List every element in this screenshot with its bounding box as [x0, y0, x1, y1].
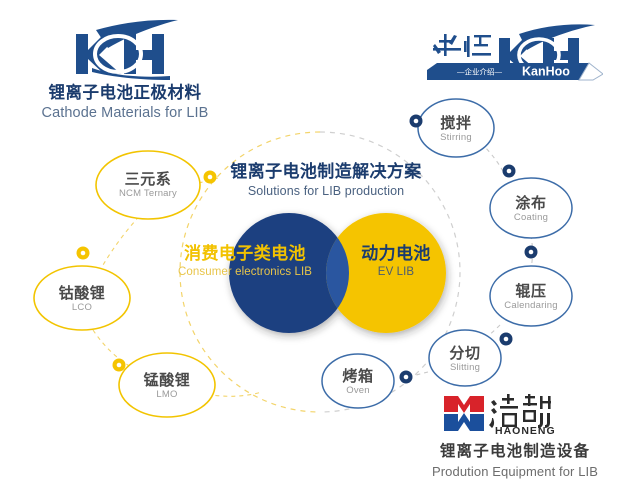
- node-lmo[interactable]: 锰酸锂 LMO: [117, 372, 217, 401]
- connector-dot-blue-calendaring: [525, 246, 538, 259]
- connector-dot-yellow-lmo: [113, 359, 126, 372]
- brand-left-en: Cathode Materials for LIB: [0, 104, 250, 123]
- node-lco[interactable]: 钴酸锂 LCO: [32, 285, 132, 314]
- node-lco-cn: 钴酸锂: [32, 285, 132, 302]
- brand-block-kanhoo-left: 锂离子电池正极材料 Cathode Materials for LIB: [0, 18, 250, 123]
- kanhoo-logo-icon[interactable]: —企业介绍— KanHoo: [427, 22, 603, 84]
- node-stirring[interactable]: 搅拌 Stirring: [406, 115, 506, 144]
- brand-left-cn: 锂离子电池正极材料: [0, 82, 250, 104]
- brand-block-kanhoo-right: —企业介绍— KanHoo: [429, 22, 611, 84]
- node-slitting-cn: 分切: [415, 345, 515, 362]
- node-oven[interactable]: 烤箱 Oven: [308, 368, 408, 397]
- node-ncm-ternary-en: NCM Ternary: [98, 188, 198, 199]
- connector-dot-blue-coating: [503, 165, 516, 178]
- node-slitting[interactable]: 分切 Slitting: [415, 345, 515, 374]
- kh-monogram-icon: [66, 18, 184, 80]
- node-stirring-cn: 搅拌: [406, 115, 506, 132]
- brand-bottom-cn: 锂离子电池制造设备: [417, 442, 613, 463]
- node-oven-en: Oven: [308, 385, 408, 396]
- banner-cn-text: —企业介绍—: [457, 67, 502, 77]
- node-coating[interactable]: 涂布 Coating: [481, 195, 581, 224]
- venn-label-consumer-en: Consumer electronics LIB: [158, 265, 332, 281]
- node-slitting-en: Slitting: [415, 362, 515, 373]
- haoneng-logo-en-text: HAONENG: [495, 425, 556, 436]
- node-lco-en: LCO: [32, 302, 132, 313]
- slide-canvas: 锂离子电池正极材料 Cathode Materials for LIB: [0, 0, 619, 489]
- node-lmo-en: LMO: [117, 389, 217, 400]
- center-title-en: Solutions for LIB production: [206, 183, 446, 200]
- venn-label-ev: 动力电池 EV LIB: [340, 243, 452, 281]
- node-stirring-en: Stirring: [406, 132, 506, 143]
- node-calendaring-en: Calendaring: [481, 300, 581, 311]
- brand-bottom-en: Prodution Equipment for LIB: [417, 463, 613, 481]
- node-ncm-ternary[interactable]: 三元系 NCM Ternary: [98, 171, 198, 200]
- haoneng-logo-icon: HAONENG: [440, 392, 590, 436]
- brand-block-haoneng: HAONENG 锂离子电池制造设备 Prodution Equipment fo…: [417, 392, 613, 480]
- connector-dot-blue-slitting: [500, 333, 513, 346]
- center-title-block: 锂离子电池制造解决方案 Solutions for LIB production: [206, 161, 446, 200]
- venn-label-ev-cn: 动力电池: [340, 243, 452, 265]
- node-ncm-ternary-cn: 三元系: [98, 171, 198, 188]
- venn-label-consumer: 消费电子类电池 Consumer electronics LIB: [158, 243, 332, 281]
- center-title-cn: 锂离子电池制造解决方案: [206, 161, 446, 183]
- node-coating-en: Coating: [481, 212, 581, 223]
- node-oven-cn: 烤箱: [308, 368, 408, 385]
- node-calendaring[interactable]: 辊压 Calendaring: [481, 283, 581, 312]
- venn-label-ev-en: EV LIB: [340, 265, 452, 281]
- node-coating-cn: 涂布: [481, 195, 581, 212]
- banner-en-text: KanHoo: [522, 65, 570, 79]
- node-lmo-cn: 锰酸锂: [117, 372, 217, 389]
- node-calendaring-cn: 辊压: [481, 283, 581, 300]
- connector-dot-yellow-lco: [77, 247, 90, 260]
- venn-label-consumer-cn: 消费电子类电池: [158, 243, 332, 265]
